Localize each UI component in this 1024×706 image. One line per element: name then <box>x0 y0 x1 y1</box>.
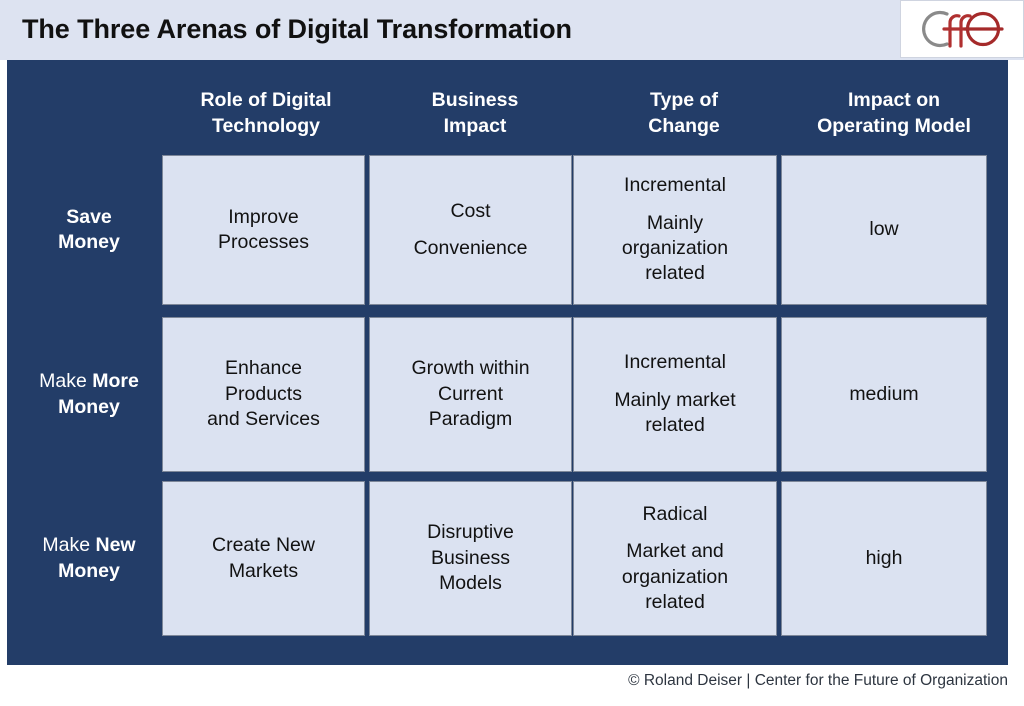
cell-text-line: Business <box>376 546 565 571</box>
cell-text-line: Mainly market <box>580 388 770 413</box>
cell-text-group: Market andorganizationrelated <box>580 539 770 615</box>
cell-make-new-money-c2: DisruptiveBusinessModels <box>369 481 572 636</box>
page-title: The Three Arenas of Digital Transformati… <box>22 14 572 45</box>
cell-text-line: organization <box>580 236 770 261</box>
cell-text-line: Radical <box>580 502 770 527</box>
cell-save-money-c1: ImproveProcesses <box>162 155 365 305</box>
cell-text-line: high <box>788 546 980 571</box>
cell-text-group: Incremental <box>580 350 770 375</box>
row-label-line1: Save <box>58 205 120 230</box>
cell-text-group: DisruptiveBusinessModels <box>376 520 565 596</box>
cell-text-line: Disruptive <box>376 520 565 545</box>
cell-text-group: Radical <box>580 502 770 527</box>
attribution-footer: © Roland Deiser | Center for the Future … <box>628 672 1008 690</box>
cell-text-group: Mainly marketrelated <box>580 388 770 439</box>
cell-text-line: Enhance <box>169 356 358 381</box>
cell-text-line: Market and <box>580 539 770 564</box>
cell-save-money-c2: CostConvenience <box>369 155 572 305</box>
cell-text-group: medium <box>788 382 980 407</box>
cell-make-more-money-c4: medium <box>781 317 987 472</box>
cell-text-line: Current <box>376 382 565 407</box>
cell-text-line: Create New <box>169 533 358 558</box>
cell-text-group: Convenience <box>376 236 565 261</box>
cell-text-line: Mainly <box>580 211 770 236</box>
cell-text-line: Products <box>169 382 358 407</box>
row-label-line2: Money <box>39 395 139 420</box>
cell-text-group: low <box>788 217 980 242</box>
cell-text-line: organization <box>580 565 770 590</box>
row-label-save-money: SaveMoney <box>15 155 163 305</box>
cell-text-line: related <box>580 261 770 286</box>
cell-text-group: Growth withinCurrentParadigm <box>376 356 565 432</box>
cell-text-line: Markets <box>169 559 358 584</box>
cell-text-line: Processes <box>169 230 358 255</box>
row-label-line2: Money <box>58 230 120 255</box>
cell-save-money-c4: low <box>781 155 987 305</box>
row-label-line1: Make New <box>42 533 135 558</box>
cell-text-line: Cost <box>376 199 565 224</box>
cell-text-group: Mainlyorganizationrelated <box>580 211 770 287</box>
cell-make-new-money-c1: Create NewMarkets <box>162 481 365 636</box>
title-bar: The Three Arenas of Digital Transformati… <box>0 0 1024 60</box>
cell-text-line: Incremental <box>580 350 770 375</box>
cell-text-line: Models <box>376 571 565 596</box>
row-label-make-new-money: Make NewMoney <box>15 481 163 636</box>
cell-text-group: Incremental <box>580 173 770 198</box>
cell-text-line: and Services <box>169 407 358 432</box>
cell-text-line: low <box>788 217 980 242</box>
cell-text-line: related <box>580 413 770 438</box>
cell-make-new-money-c3: RadicalMarket andorganizationrelated <box>573 481 777 636</box>
cell-text-line: Improve <box>169 205 358 230</box>
cell-text-line: Paradigm <box>376 407 565 432</box>
cell-text-group: EnhanceProductsand Services <box>169 356 358 432</box>
cell-text-line: related <box>580 590 770 615</box>
cffo-logo-icon <box>907 5 1017 53</box>
cell-make-new-money-c4: high <box>781 481 987 636</box>
cell-make-more-money-c2: Growth withinCurrentParadigm <box>369 317 572 472</box>
row-label-line1: Make More <box>39 369 139 394</box>
cffo-logo <box>900 0 1024 58</box>
row-label-make-more-money: Make MoreMoney <box>15 317 163 472</box>
cell-text-group: Create NewMarkets <box>169 533 358 584</box>
row-label-line2: Money <box>42 559 135 584</box>
cell-make-more-money-c3: IncrementalMainly marketrelated <box>573 317 777 472</box>
cell-text-line: Convenience <box>376 236 565 261</box>
cell-text-group: high <box>788 546 980 571</box>
cell-text-line: Growth within <box>376 356 565 381</box>
cell-text-line: Incremental <box>580 173 770 198</box>
cell-text-group: ImproveProcesses <box>169 205 358 256</box>
cell-make-more-money-c1: EnhanceProductsand Services <box>162 317 365 472</box>
matrix-panel: Role of Digital Technology Business Impa… <box>7 60 1008 665</box>
matrix-grid: SaveMoneyImproveProcessesCostConvenience… <box>7 60 1008 665</box>
cell-text-line: medium <box>788 382 980 407</box>
cell-text-group: Cost <box>376 199 565 224</box>
cell-save-money-c3: IncrementalMainlyorganizationrelated <box>573 155 777 305</box>
